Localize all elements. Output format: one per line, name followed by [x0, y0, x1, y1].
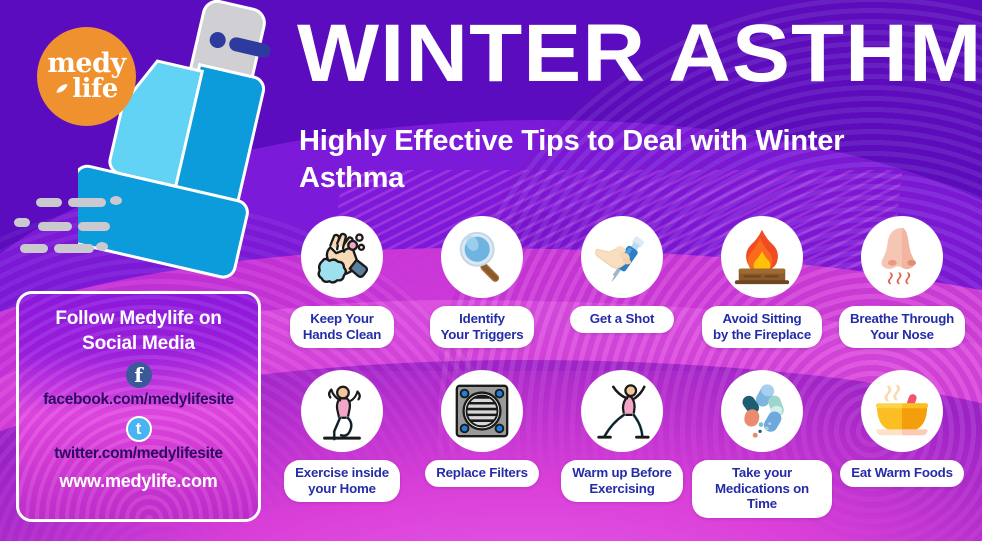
logo-text-life: life — [72, 77, 117, 102]
tip-label: Get a Shot — [570, 306, 674, 333]
tip-card-breathe-through-nose[interactable]: Breathe Through Your Nose — [832, 216, 972, 348]
tip-card-replace-filters[interactable]: Replace Filters — [412, 370, 552, 487]
twitter-icon[interactable]: t — [126, 416, 152, 442]
infographic-poster: medy life WINTER ASTHMA Highly Effective… — [0, 0, 982, 541]
stretching-icon — [581, 370, 663, 452]
hot-soup-bowl-icon — [861, 370, 943, 452]
magnifying-glass-icon — [441, 216, 523, 298]
twitter-link[interactable]: twitter.com/medylifesite — [29, 445, 248, 464]
page-title: WINTER ASTHMA — [297, 13, 982, 95]
pills-capsules-icon — [721, 370, 803, 452]
social-media-panel: Follow Medylife on Social Media f facebo… — [16, 291, 261, 522]
tip-card-avoid-fireplace[interactable]: Avoid Sitting by the Fireplace — [692, 216, 832, 348]
tip-label: Warm up Before Exercising — [561, 460, 682, 502]
medylife-logo[interactable]: medy life — [37, 27, 136, 126]
tip-label: Take your Medications on Time — [692, 460, 832, 518]
social-panel-heading: Follow Medylife on Social Media — [29, 307, 248, 356]
facebook-link[interactable]: facebook.com/medylifesite — [29, 391, 248, 410]
tip-card-take-medications-on-time[interactable]: Take your Medications on Time — [692, 370, 832, 518]
tip-card-eat-warm-foods[interactable]: Eat Warm Foods — [832, 370, 972, 487]
nose-breathing-icon — [861, 216, 943, 298]
fireplace-icon — [721, 216, 803, 298]
tip-card-exercise-inside-home[interactable]: Exercise inside your Home — [272, 370, 412, 502]
tip-label: Breathe Through Your Nose — [839, 306, 965, 348]
tip-card-identify-triggers[interactable]: Identify Your Triggers — [412, 216, 552, 348]
hand-syringe-icon — [581, 216, 663, 298]
page-subtitle: Highly Effective Tips to Deal with Winte… — [299, 123, 859, 197]
yoga-pose-icon — [301, 370, 383, 452]
washing-hands-icon — [301, 216, 383, 298]
tip-label: Identify Your Triggers — [430, 306, 535, 348]
tip-label: Eat Warm Foods — [840, 460, 964, 487]
air-filter-icon — [441, 370, 523, 452]
tip-card-get-a-shot[interactable]: Get a Shot — [552, 216, 692, 333]
tip-card-keep-hands-clean[interactable]: Keep Your Hands Clean — [272, 216, 412, 348]
tips-grid: Keep Your Hands Clean Identify Your Trig… — [272, 216, 982, 526]
tip-card-warm-up-before-exercising[interactable]: Warm up Before Exercising — [552, 370, 692, 502]
facebook-icon[interactable]: f — [126, 362, 152, 388]
mist-spray-icon — [14, 196, 110, 266]
tip-label: Avoid Sitting by the Fireplace — [702, 306, 822, 348]
tip-label: Keep Your Hands Clean — [290, 306, 394, 348]
leaf-icon — [55, 82, 69, 96]
website-link[interactable]: www.medylife.com — [29, 471, 248, 492]
tip-label: Exercise inside your Home — [284, 460, 400, 502]
tip-label: Replace Filters — [425, 460, 539, 487]
